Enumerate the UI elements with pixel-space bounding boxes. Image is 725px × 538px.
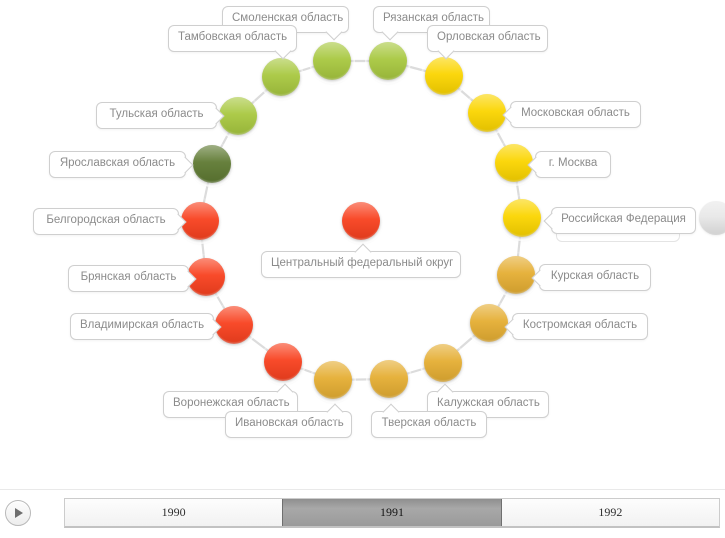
region-node[interactable] [497, 256, 535, 294]
node-label-callout[interactable]: Ярославская область [49, 151, 186, 178]
region-node[interactable] [262, 58, 300, 96]
motion-chart-app: Липецкая областьСмоленская областьТамбов… [0, 0, 725, 537]
node-label-text: Тульская область [109, 108, 203, 120]
node-label-text: Ярославская область [60, 157, 175, 169]
node-gloss [425, 57, 463, 95]
node-gloss [264, 343, 302, 381]
region-node[interactable] [468, 94, 506, 132]
node-label-text: Владимирская область [80, 319, 204, 331]
node-label-text: Костромская область [523, 319, 637, 331]
region-node[interactable] [503, 199, 541, 237]
region-node[interactable] [369, 42, 407, 80]
year-slider[interactable]: 199019911992 [64, 498, 720, 528]
region-node[interactable] [181, 202, 219, 240]
year-tick-1991[interactable]: 1991 [282, 499, 501, 526]
node-gloss [314, 361, 352, 399]
node-label-callout[interactable]: Владимирская область [70, 313, 214, 340]
node-label-callout[interactable]: Орловская область [427, 25, 548, 52]
node-label-text: Курская область [551, 270, 639, 282]
node-label-callout[interactable]: Брянская область [68, 265, 189, 292]
year-tick-label: 1992 [598, 505, 622, 520]
node-label-text: Рязанская область [383, 12, 484, 24]
node-gloss [470, 304, 508, 342]
node-label-callout[interactable]: Курская область [539, 264, 651, 291]
node-label-callout[interactable]: Тверская область [371, 411, 487, 438]
node-label-text: Брянская область [81, 271, 177, 283]
region-node[interactable] [193, 145, 231, 183]
node-gloss [503, 199, 541, 237]
node-label-text: Ивановская область [235, 417, 344, 429]
play-triangle-icon [15, 508, 23, 518]
node-label-callout[interactable]: Тульская область [96, 102, 217, 129]
node-gloss [497, 256, 535, 294]
node-gloss [468, 94, 506, 132]
node-label-callout[interactable]: Костромская область [512, 313, 648, 340]
node-gloss [181, 202, 219, 240]
year-tick-label: 1990 [162, 505, 186, 520]
region-node[interactable] [425, 57, 463, 95]
node-label-text: Орловская область [437, 31, 541, 43]
node-label-callout[interactable]: г. Москва [535, 151, 611, 178]
node-label-callout[interactable]: Тамбовская область [168, 25, 297, 52]
center-node[interactable] [342, 202, 380, 240]
node-label-text: Московская область [521, 107, 630, 119]
region-node[interactable] [313, 42, 351, 80]
year-tick-1992[interactable]: 1992 [502, 499, 719, 526]
node-gloss [193, 145, 231, 183]
node-gloss [215, 306, 253, 344]
region-node[interactable] [314, 361, 352, 399]
node-label-callout[interactable]: Российская Федерация [551, 207, 696, 234]
node-label-text: Белгородская область [46, 214, 165, 226]
offscreen-ghost-node[interactable] [699, 201, 725, 235]
node-gloss [424, 344, 462, 382]
play-button[interactable] [5, 500, 31, 526]
year-tick-1990[interactable]: 1990 [65, 499, 282, 526]
node-label-text: Смоленская область [232, 12, 343, 24]
region-node[interactable] [495, 144, 533, 182]
node-gloss [369, 42, 407, 80]
node-gloss [342, 202, 380, 240]
node-label-callout[interactable]: Ивановская область [225, 411, 352, 438]
region-node[interactable] [470, 304, 508, 342]
node-gloss [262, 58, 300, 96]
node-label-callout[interactable]: Московская область [510, 101, 641, 128]
node-label-text: Российская Федерация [561, 213, 686, 225]
region-node[interactable] [219, 97, 257, 135]
region-node[interactable] [424, 344, 462, 382]
chart-canvas[interactable]: Липецкая областьСмоленская областьТамбов… [0, 0, 725, 489]
year-tick-label: 1991 [380, 505, 404, 520]
node-label-text: Тамбовская область [178, 31, 287, 43]
node-gloss [495, 144, 533, 182]
timeline-control[interactable]: 199019911992 [0, 489, 725, 538]
node-label-text: Воронежская область [173, 397, 290, 409]
region-node[interactable] [215, 306, 253, 344]
node-gloss [699, 201, 725, 235]
region-node[interactable] [370, 360, 408, 398]
node-gloss [313, 42, 351, 80]
node-label-text: Калужская область [437, 397, 540, 409]
node-gloss [370, 360, 408, 398]
node-label-callout[interactable]: Белгородская область [33, 208, 179, 235]
region-node[interactable] [264, 343, 302, 381]
node-label-text: Тверская область [382, 417, 477, 429]
node-gloss [219, 97, 257, 135]
center-node-label-callout[interactable]: Центральный федеральный округ [261, 251, 461, 278]
node-label-text: г. Москва [549, 157, 597, 169]
